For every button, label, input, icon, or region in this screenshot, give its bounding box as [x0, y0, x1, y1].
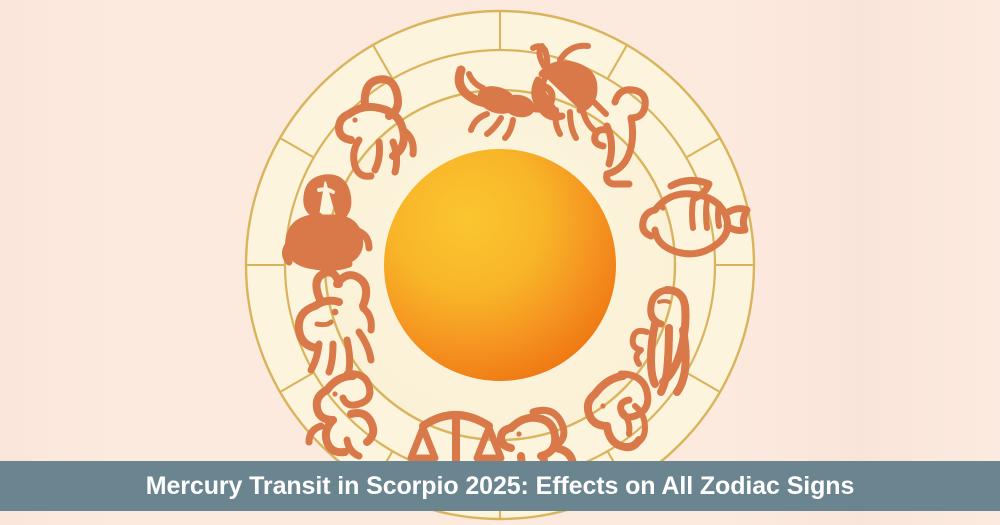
zodiac-wheel-graphic [243, 8, 757, 522]
caption-bar: Mercury Transit in Scorpio 2025: Effects… [0, 461, 1000, 511]
zodiac-banner: Mercury Transit in Scorpio 2025: Effects… [0, 0, 1000, 525]
caption-title: Mercury Transit in Scorpio 2025: Effects… [146, 474, 855, 499]
sun-icon [384, 149, 616, 381]
zodiac-wheel [243, 8, 757, 522]
